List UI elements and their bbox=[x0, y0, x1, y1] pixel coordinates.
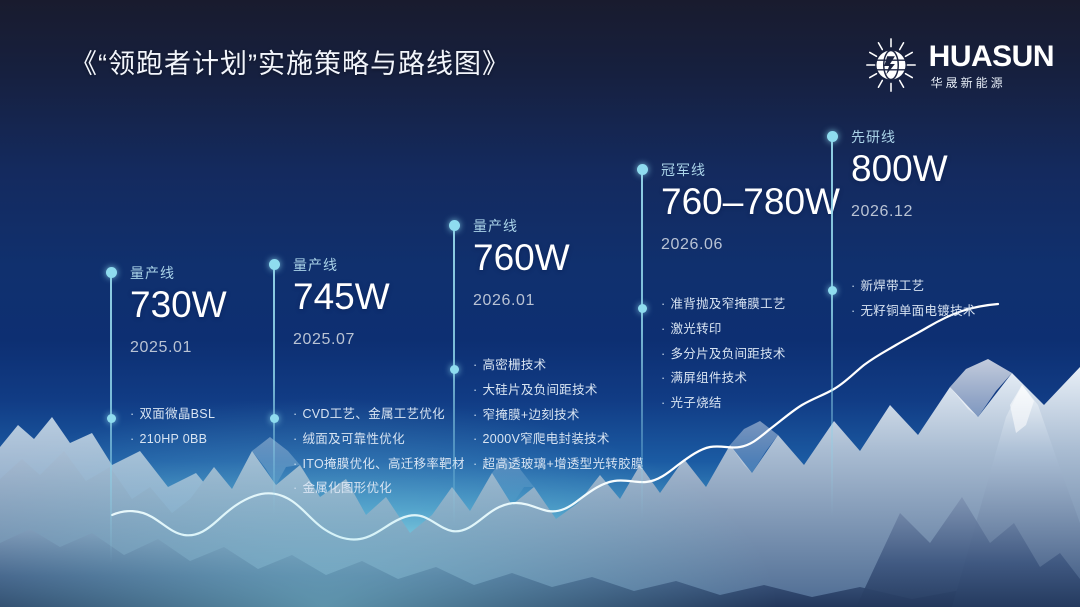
milestone-value: 800W bbox=[851, 148, 1080, 189]
page-title: 《“领跑者计划”实施策略与路线图》 bbox=[70, 42, 510, 81]
bullet-text: CVD工艺、金属工艺优化 bbox=[302, 407, 445, 421]
bullet-text: 多分片及负间距技术 bbox=[670, 347, 785, 361]
bullet-text: 无籽铜单面电镀技术 bbox=[860, 304, 975, 318]
list-item: ·金属化图形优化 bbox=[293, 482, 553, 496]
list-item: ·满屏组件技术 bbox=[661, 372, 921, 386]
bullet-text: 双面微晶BSL bbox=[139, 407, 215, 421]
logo-wordmark: HUASUN bbox=[929, 42, 1054, 72]
list-item: ·光子烧结 bbox=[661, 397, 921, 411]
timeline-dot-top bbox=[106, 267, 117, 278]
timeline-dot-top bbox=[637, 164, 648, 175]
list-item: ·超高透玻璃+增透型光转胶膜 bbox=[473, 458, 733, 472]
slide-canvas: 《“领跑者计划”实施策略与路线图》 bbox=[0, 0, 1080, 607]
timeline-dot-top bbox=[449, 220, 460, 231]
bullet-dot-icon: · bbox=[473, 457, 477, 471]
bullet-text: ITO掩膜优化、高迁移率靶材 bbox=[302, 457, 464, 471]
milestone-date: 2026.12 bbox=[851, 203, 1080, 221]
list-item: ·2000V窄爬电封装技术 bbox=[473, 433, 733, 447]
milestone-date: 2025.07 bbox=[293, 331, 533, 349]
bullet-text: 准背抛及窄掩膜工艺 bbox=[670, 297, 785, 311]
bullet-text: 绒面及可靠性优化 bbox=[302, 432, 404, 446]
brand-logo: HUASUN 华晟新能源 bbox=[862, 36, 1054, 94]
list-item: ·多分片及负间距技术 bbox=[661, 348, 921, 362]
bullet-dot-icon: · bbox=[130, 432, 134, 446]
bullet-dot-icon: · bbox=[851, 304, 855, 318]
bullet-text: 激光转印 bbox=[670, 322, 721, 336]
bullet-dot-icon: · bbox=[661, 371, 665, 385]
timeline-dot-top bbox=[269, 259, 280, 270]
milestone-heading: 先研线 800W 2026.12 bbox=[851, 127, 1080, 221]
milestone-label: 先研线 bbox=[851, 127, 1080, 147]
bullet-text: 大硅片及负间距技术 bbox=[482, 383, 597, 397]
bullet-dot-icon: · bbox=[473, 432, 477, 446]
timeline-dot-bullets bbox=[270, 414, 279, 423]
bullet-text: 光子烧结 bbox=[670, 396, 721, 410]
list-item: ·无籽铜单面电镀技术 bbox=[851, 305, 1080, 319]
bullet-dot-icon: · bbox=[473, 408, 477, 422]
timeline-dot-bullets bbox=[107, 414, 116, 423]
bullet-text: 金属化图形优化 bbox=[302, 481, 392, 495]
bullet-text: 高密栅技术 bbox=[482, 358, 546, 372]
list-item: ·新焊带工艺 bbox=[851, 280, 1080, 294]
milestone-date: 2026.06 bbox=[661, 236, 901, 254]
bullet-dot-icon: · bbox=[661, 297, 665, 311]
timeline-dot-top bbox=[827, 131, 838, 142]
bullet-dot-icon: · bbox=[130, 407, 134, 421]
logo-subtitle: 华晟新能源 bbox=[931, 77, 1006, 89]
slide-header: 《“领跑者计划”实施策略与路线图》 bbox=[0, 0, 1080, 118]
bullet-text: 超高透玻璃+增透型光转胶膜 bbox=[482, 457, 643, 471]
sun-globe-icon bbox=[862, 36, 920, 94]
bullet-dot-icon: · bbox=[851, 279, 855, 293]
timeline-dot-bullets bbox=[638, 304, 647, 313]
bullet-dot-icon: · bbox=[293, 407, 297, 421]
bullet-text: 满屏组件技术 bbox=[670, 371, 747, 385]
timeline-dot-bullets bbox=[450, 365, 459, 374]
bullet-dot-icon: · bbox=[293, 457, 297, 471]
bullet-dot-icon: · bbox=[661, 347, 665, 361]
milestone-bullet-list: ·新焊带工艺 ·无籽铜单面电镀技术 bbox=[851, 280, 1080, 330]
bullet-dot-icon: · bbox=[293, 481, 297, 495]
bullet-text: 新焊带工艺 bbox=[860, 279, 924, 293]
bullet-dot-icon: · bbox=[661, 396, 665, 410]
bullet-text: 210HP 0BB bbox=[139, 432, 207, 446]
bullet-dot-icon: · bbox=[661, 322, 665, 336]
bullet-dot-icon: · bbox=[473, 358, 477, 372]
bullet-dot-icon: · bbox=[473, 383, 477, 397]
timeline-dot-bullets bbox=[828, 286, 837, 295]
bullet-text: 2000V窄爬电封装技术 bbox=[482, 432, 609, 446]
bullet-text: 窄掩膜+边刻技术 bbox=[482, 408, 579, 422]
bullet-dot-icon: · bbox=[293, 432, 297, 446]
